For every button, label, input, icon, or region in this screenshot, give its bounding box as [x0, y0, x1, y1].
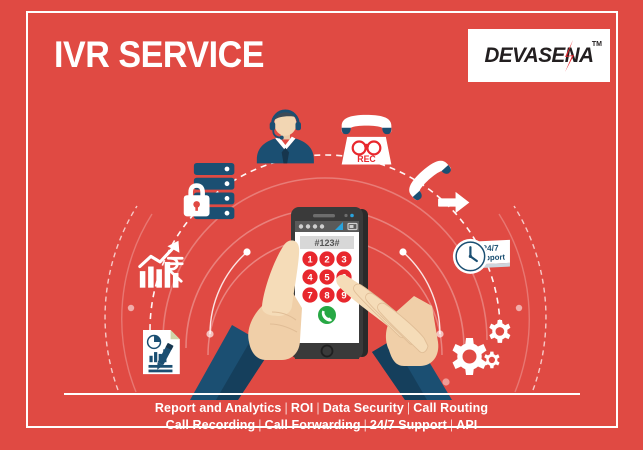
gears-api-icon: [453, 320, 511, 375]
phone-display-value: #123#: [314, 238, 339, 248]
report-document-icon: [143, 330, 180, 374]
keypad-key-4: 4: [302, 269, 317, 284]
headset-agent-icon: [257, 110, 314, 163]
keypad-key-7: 7: [302, 287, 317, 302]
svg-text:1: 1: [307, 255, 313, 266]
keypad-key-2: 2: [319, 251, 334, 266]
svg-text:4: 4: [307, 273, 313, 284]
feature-item: Call Forwarding: [265, 418, 361, 432]
feature-item: Report and Analytics: [155, 401, 282, 415]
call-button: [318, 306, 336, 324]
keypad-key-3: 3: [336, 251, 351, 266]
logo-lightning-bolt: [475, 39, 603, 73]
page-title: IVR SERVICE: [54, 36, 264, 73]
database-lock-icon: [184, 163, 235, 219]
clock-icon: 24/7 support: [453, 239, 510, 274]
rec-telephone-icon: REC: [342, 115, 392, 165]
devasena-logo: DEVASENA TM: [468, 29, 610, 82]
svg-text:3: 3: [341, 255, 346, 266]
logo-trademark: TM: [592, 41, 602, 48]
feature-list: Report and Analytics|ROI|Data Security|C…: [40, 400, 603, 434]
feature-item: API: [456, 418, 477, 432]
feature-item: Call Routing: [413, 401, 488, 415]
feature-separator: |: [404, 401, 413, 415]
svg-text:2: 2: [324, 255, 329, 266]
ivr-service-poster: REC: [0, 0, 643, 450]
footer-divider: [64, 393, 580, 395]
feature-separator: |: [447, 418, 456, 432]
svg-text:7: 7: [307, 291, 312, 302]
feature-item: Data Security: [323, 401, 404, 415]
feature-item: Call Recording: [166, 418, 256, 432]
feature-item: ROI: [291, 401, 314, 415]
left-hand: [190, 240, 302, 400]
keypad-key-8: 8: [319, 287, 334, 302]
svg-text:8: 8: [324, 291, 329, 302]
feature-row-2: Call Recording|Call Forwarding|24/7 Supp…: [40, 417, 603, 434]
feature-separator: |: [281, 401, 290, 415]
feature-separator: |: [361, 418, 370, 432]
keypad-key-5: 5: [319, 269, 334, 284]
roi-bar-chart-rupee-icon: [140, 241, 182, 288]
svg-text:5: 5: [324, 273, 330, 284]
rec-label: REC: [357, 154, 376, 164]
feature-separator: |: [255, 418, 264, 432]
feature-separator: |: [313, 401, 322, 415]
feature-item: 24/7 Support: [370, 418, 447, 432]
keypad-key-1: 1: [302, 251, 317, 266]
feature-row-1: Report and Analytics|ROI|Data Security|C…: [40, 400, 603, 417]
